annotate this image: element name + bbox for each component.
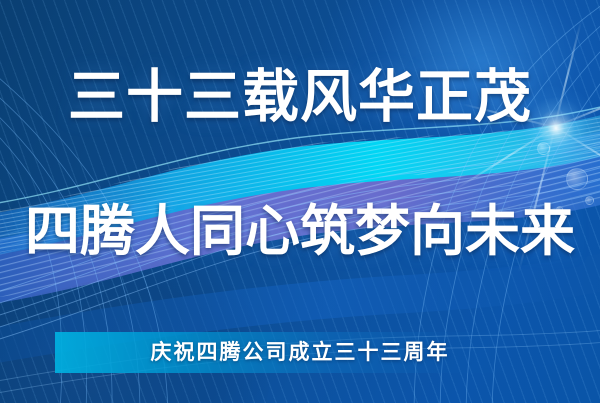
title-line-1: 三十三载风华正茂 bbox=[0, 62, 600, 132]
subtitle-text: 庆祝四腾公司成立三十三周年 bbox=[0, 337, 600, 367]
anniversary-poster: 三十三载风华正茂 四腾人同心筑梦向未来 庆祝四腾公司成立三十三周年 bbox=[0, 0, 600, 403]
title-line-2: 四腾人同心筑梦向未来 bbox=[0, 196, 600, 266]
